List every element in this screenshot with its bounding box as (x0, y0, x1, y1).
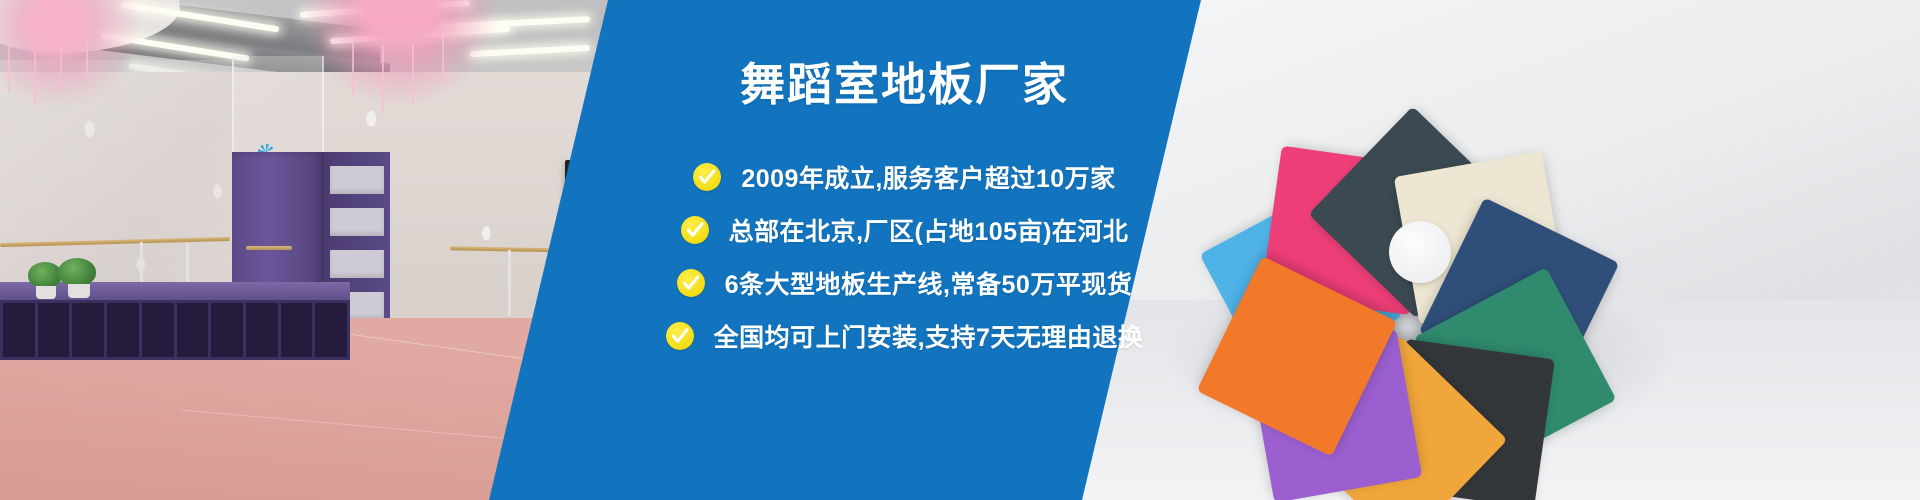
feature-list: 2009年成立,服务客户超过10万家总部在北京,厂区(占地105亩)在河北6条大… (608, 150, 1201, 362)
barre-post (508, 250, 511, 316)
colour-tile-fan (1190, 22, 1650, 482)
plant-pot (36, 286, 56, 299)
feature-item: 总部在北京,厂区(占地105亩)在河北 (608, 203, 1201, 256)
plant-pot (68, 284, 90, 298)
promo-banner: 舞蹈室地板厂家 2009年成立,服务客户超过10万家总部在北京,厂区(占地105… (0, 0, 1920, 500)
barre-post (140, 242, 143, 284)
potted-plant (58, 258, 96, 286)
barre-post (186, 244, 189, 284)
purple-cubby-shelving (0, 300, 350, 360)
page-title: 舞蹈室地板厂家 (608, 60, 1201, 110)
ballet-barre (246, 246, 292, 250)
panel-content: 舞蹈室地板厂家 2009年成立,服务客户超过10万家总部在北京,厂区(占地105… (608, 0, 1201, 500)
feature-text: 2009年成立,服务客户超过10万家 (741, 159, 1115, 195)
feature-item: 全国均可上门安装,支持7天无理由退换 (608, 309, 1201, 362)
check-circle-icon (681, 216, 709, 244)
pink-chandelier (290, 0, 510, 110)
feature-text: 总部在北京,厂区(占地105亩)在河北 (729, 212, 1129, 248)
feature-text: 全国均可上门安装,支持7天无理由退换 (714, 318, 1144, 354)
check-circle-icon (693, 163, 721, 191)
pink-chandelier (0, 0, 148, 126)
feature-item: 6条大型地板生产线,常备50万平现货 (608, 256, 1201, 309)
check-circle-icon (677, 269, 705, 297)
feature-item: 2009年成立,服务客户超过10万家 (608, 150, 1201, 203)
feature-text: 6条大型地板生产线,常备50万平现货 (725, 265, 1133, 301)
check-circle-icon (666, 322, 694, 350)
colour-sample-fan-photo (1080, 0, 1920, 500)
fan-centre-hub (1389, 221, 1451, 283)
potted-plant (28, 262, 62, 288)
